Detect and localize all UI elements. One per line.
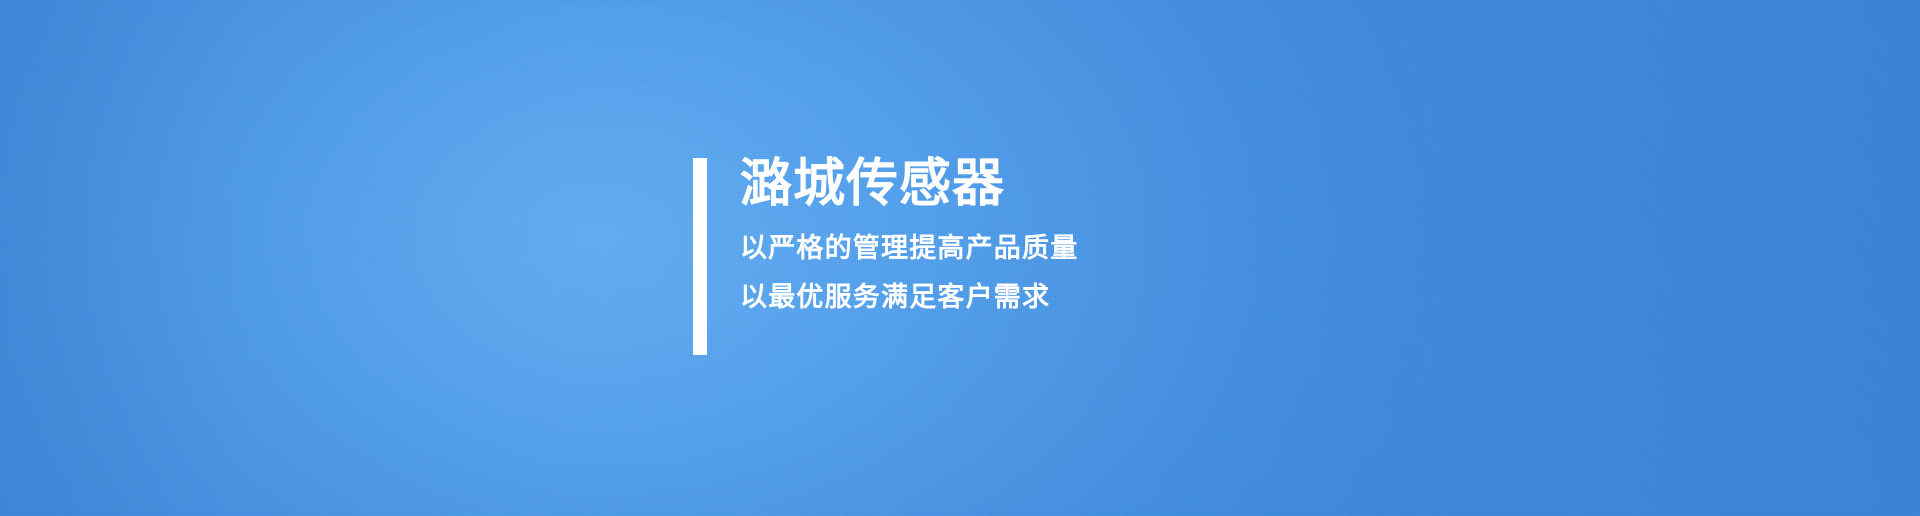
- banner-content: 潞城传感器 以严格的管理提高产品质量 以最优服务满足客户需求: [693, 158, 1078, 355]
- banner-text-block: 潞城传感器 以严格的管理提高产品质量 以最优服务满足客户需求: [740, 158, 1078, 355]
- accent-bar: [693, 158, 707, 355]
- hero-banner: 潞城传感器 以严格的管理提高产品质量 以最优服务满足客户需求: [0, 0, 1920, 516]
- page-title: 潞城传感器: [740, 158, 1078, 210]
- banner-subtitle-line-2: 以最优服务满足客户需求: [740, 284, 1078, 311]
- banner-subtitle-line-1: 以严格的管理提高产品质量: [740, 235, 1078, 262]
- banner-subtitle-list: 以严格的管理提高产品质量 以最优服务满足客户需求: [740, 235, 1078, 311]
